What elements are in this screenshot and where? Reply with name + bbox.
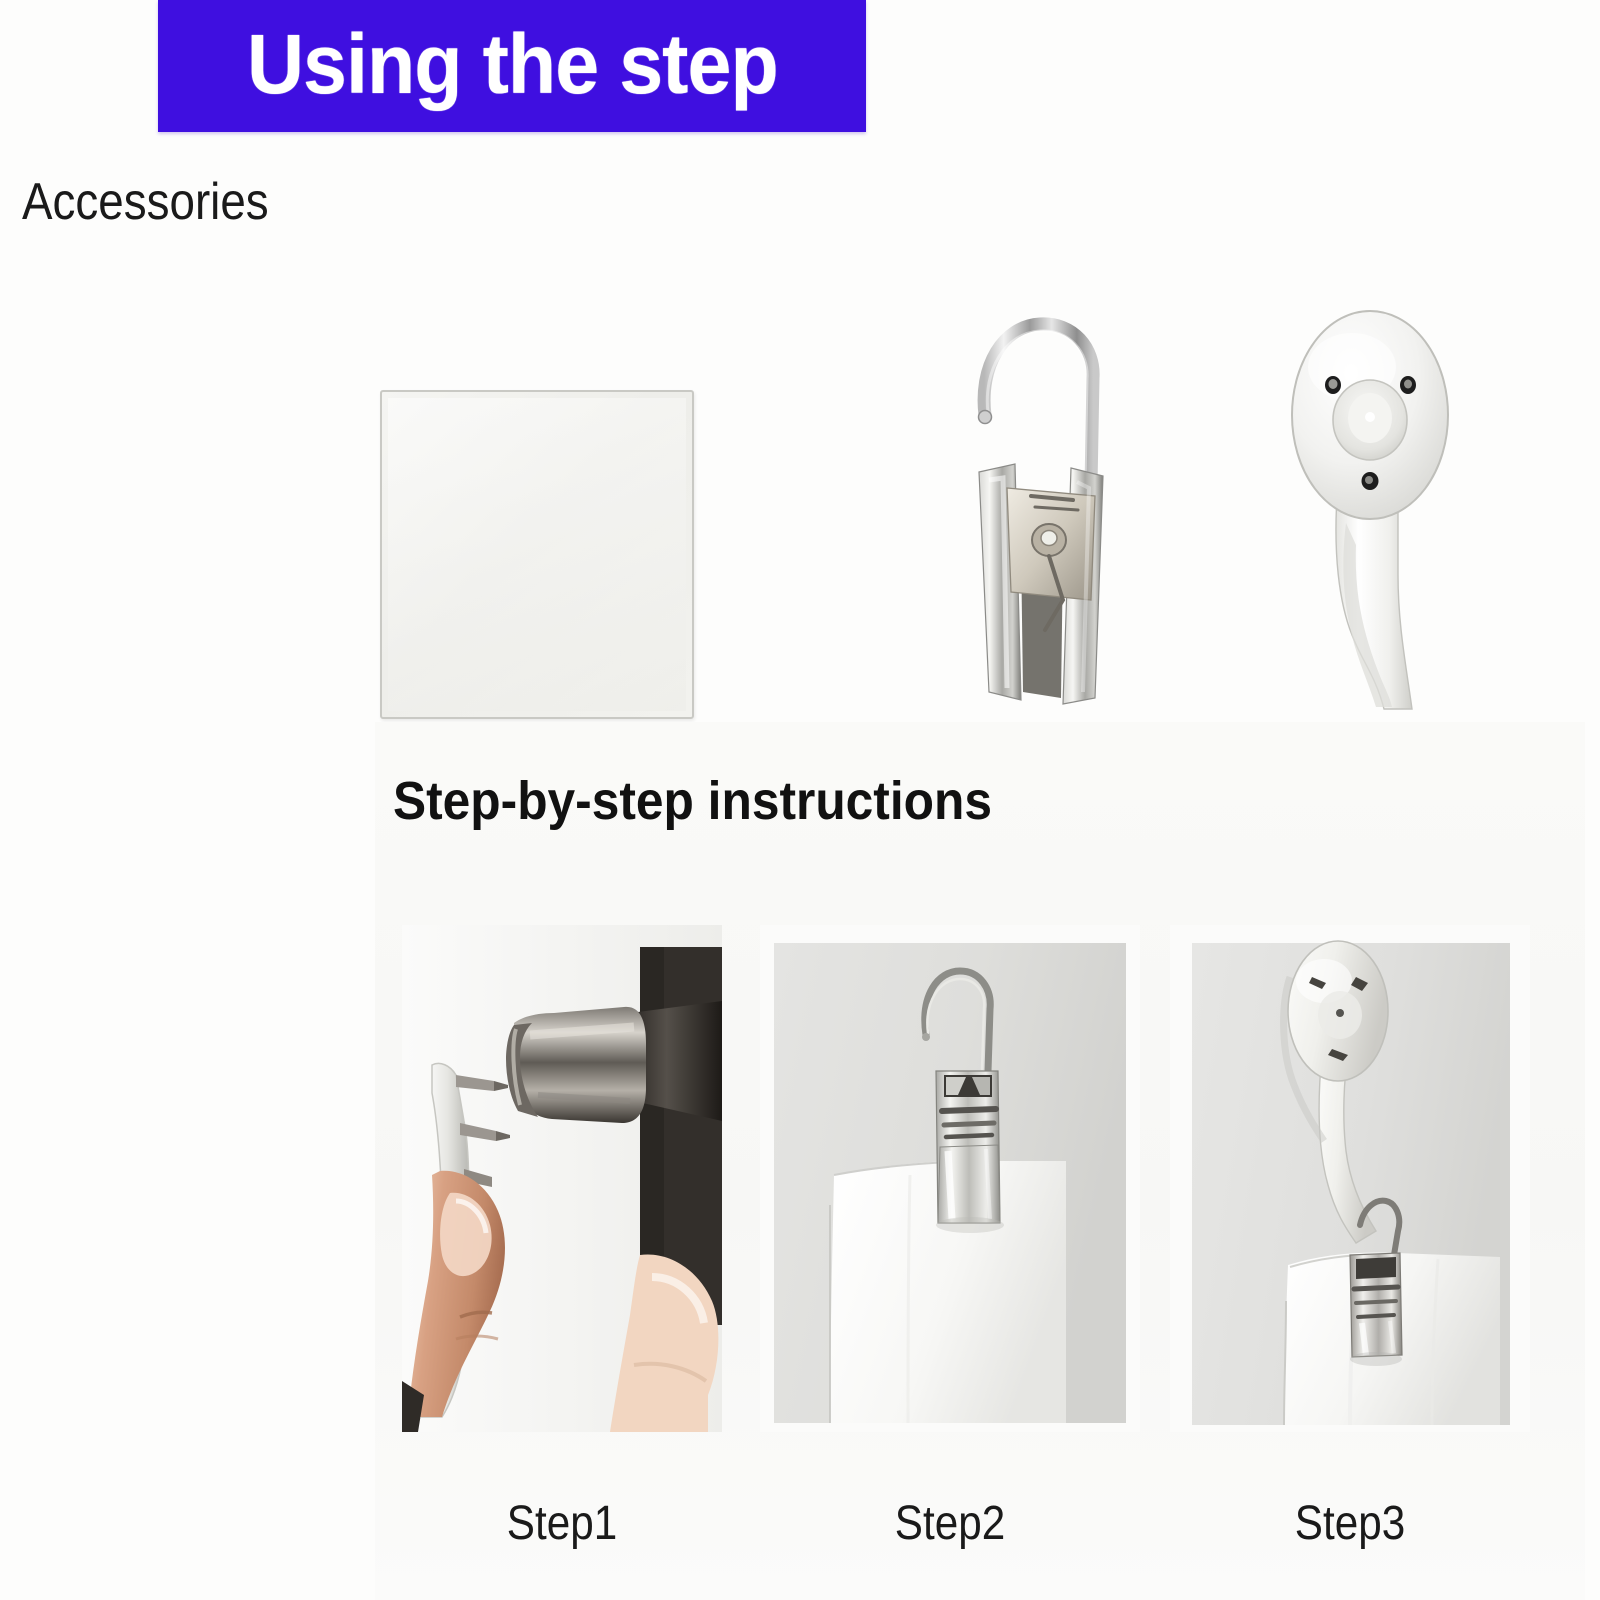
metal-hook-clip-icon [945, 300, 1135, 720]
step-caption-3: Step3 [1192, 1500, 1509, 1548]
step-photo-2 [760, 925, 1140, 1432]
accessories-row: sticky 2 hangers 2 nails [0, 150, 1600, 670]
step-photo-1 [402, 925, 722, 1432]
white-wall-hook-with-nails-icon [1280, 305, 1460, 715]
step-photo-3 [1170, 925, 1530, 1432]
step-caption-2: Step2 [783, 1500, 1117, 1548]
instructions-section-label: Step-by-step instructions [393, 770, 992, 832]
page-title: Using the step [247, 22, 778, 106]
infographic-page: Using the step Accessories [0, 0, 1600, 1600]
adhesive-sticker-pad-icon [380, 390, 694, 719]
step-caption-1: Step1 [421, 1500, 703, 1548]
title-banner: Using the step [158, 0, 866, 132]
